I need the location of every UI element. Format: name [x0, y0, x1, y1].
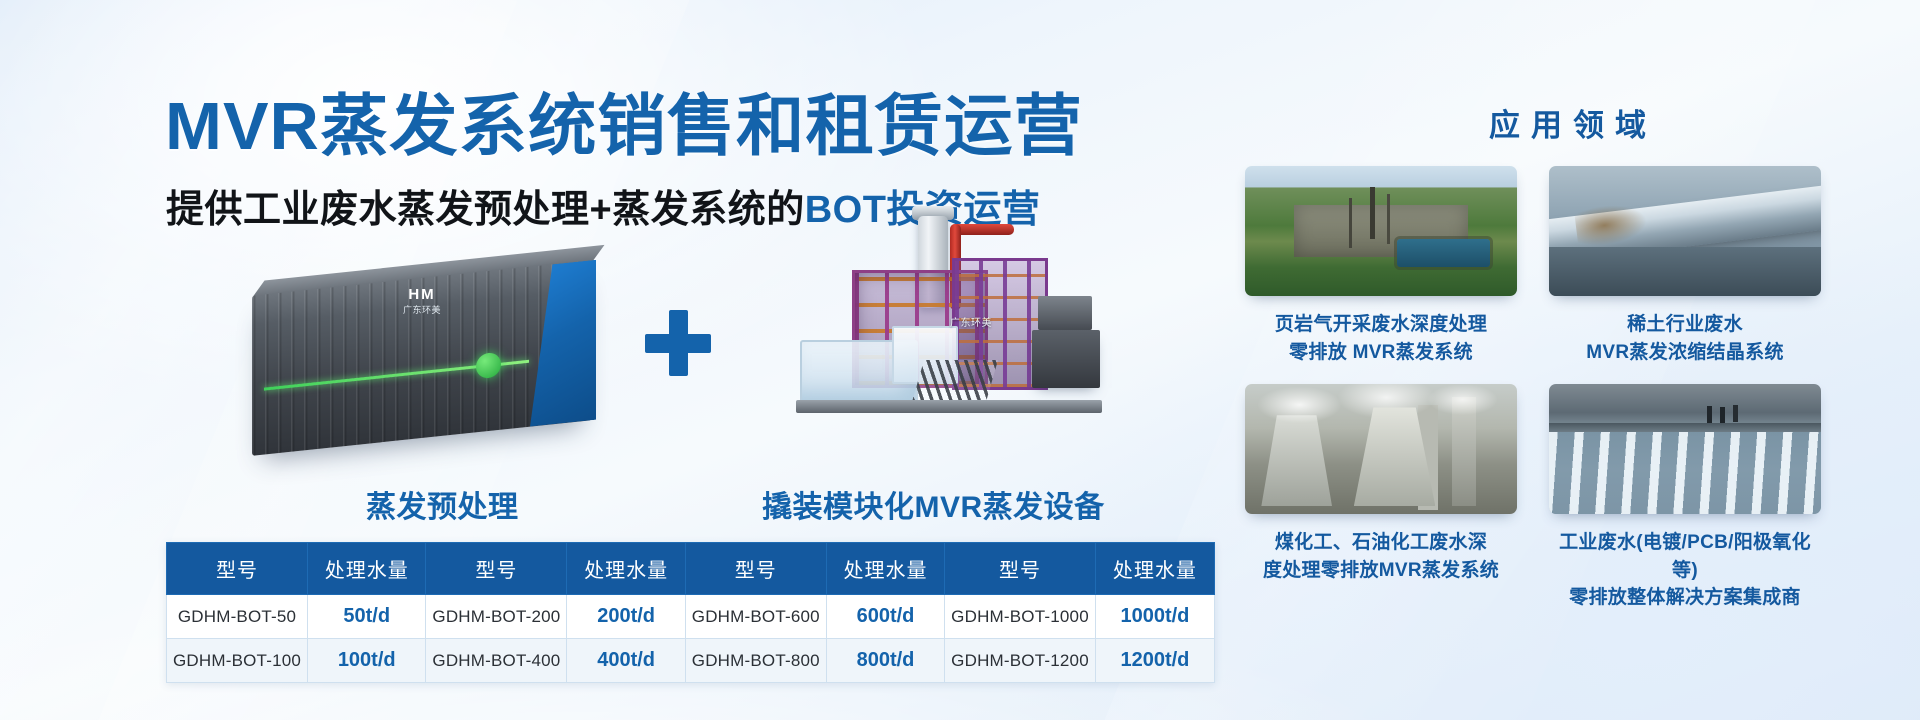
- product-caption-mvr-equipment: 撬装模块化MVR蒸发设备: [762, 482, 1105, 526]
- column-header-model: 型号: [426, 543, 567, 595]
- product-caption-pretreatment: 蒸发预处理: [366, 482, 519, 526]
- cell-capacity: 400t/d: [567, 639, 685, 683]
- table-header-row: 型号 处理水量 型号 处理水量 型号 处理水量 型号 处理水量: [167, 543, 1215, 595]
- caption-line-2: 零排放整体解决方案集成商: [1549, 584, 1821, 612]
- product-illustration-row: HM 广东环美 广东环美: [0, 258, 1180, 508]
- brand-mark-text: HM: [403, 286, 441, 305]
- column-header-capacity: 处理水量: [826, 543, 944, 595]
- cell-model: GDHM-BOT-600: [685, 595, 826, 639]
- application-card-rare-earth[interactable]: 稀土行业废水 MVR蒸发浓缩结晶系统: [1549, 166, 1821, 366]
- worker-figures: [1707, 406, 1712, 423]
- retention-pond: [1397, 239, 1489, 268]
- column-header-capacity: 处理水量: [308, 543, 426, 595]
- rig-brand-logo: 广东环美: [950, 314, 992, 329]
- shale-gas-wellpad-photo: [1245, 166, 1517, 296]
- application-card-caption: 煤化工、石油化工废水深 度处理零排放MVR蒸发系统: [1245, 529, 1517, 584]
- cell-model: GDHM-BOT-800: [685, 639, 826, 683]
- application-card-coal-chemical[interactable]: 煤化工、石油化工废水深 度处理零排放MVR蒸发系统: [1245, 384, 1517, 612]
- evaporation-pretreatment-unit-image: HM 广东环美: [252, 260, 592, 456]
- control-cabinet: [1032, 330, 1100, 388]
- promotional-banner: MVR蒸发系统销售和租赁运营 提供工业废水蒸发预处理+蒸发系统的BOT投资运营 …: [0, 0, 1920, 720]
- column-header-model: 型号: [945, 543, 1096, 595]
- cell-capacity: 1200t/d: [1095, 639, 1214, 683]
- application-cards-grid: 页岩气开采废水深度处理 零排放 MVR蒸发系统 稀土行业废水 MVR蒸发浓缩结晶…: [1245, 166, 1895, 612]
- skid-base-frame: [796, 400, 1102, 413]
- cell-capacity: 50t/d: [308, 595, 426, 639]
- cell-model: GDHM-BOT-1200: [945, 639, 1096, 683]
- caption-line-2: 零排放 MVR蒸发系统: [1245, 339, 1517, 367]
- column-header-model: 型号: [685, 543, 826, 595]
- specification-table: 型号 处理水量 型号 处理水量 型号 处理水量 型号 处理水量 GDHM-BOT…: [166, 542, 1215, 683]
- caption-line-1: 工业废水(电镀/PCB/阳极氧化等): [1549, 529, 1821, 584]
- caption-line-1: 页岩气开采废水深度处理: [1245, 311, 1517, 339]
- applications-column: 应用领域 页岩气开采废水深度处理 零排放 MVR蒸发系统: [1215, 0, 1920, 720]
- industrial-pipeline-photo: [1549, 166, 1821, 296]
- cell-model: GDHM-BOT-400: [426, 639, 567, 683]
- heat-exchanger-coil: [912, 360, 998, 402]
- left-content-column: MVR蒸发系统销售和租赁运营 提供工业废水蒸发预处理+蒸发系统的BOT投资运营 …: [0, 0, 1215, 720]
- cell-capacity: 200t/d: [567, 595, 685, 639]
- table-row: GDHM-BOT-50 50t/d GDHM-BOT-200 200t/d GD…: [167, 595, 1215, 639]
- cell-capacity: 1000t/d: [1095, 595, 1214, 639]
- cell-capacity: 600t/d: [826, 595, 944, 639]
- column-header-model: 型号: [167, 543, 308, 595]
- application-card-industrial-wastewater[interactable]: 工业废水(电镀/PCB/阳极氧化等) 零排放整体解决方案集成商: [1549, 384, 1821, 612]
- coal-chemical-plant-photo: [1245, 384, 1517, 514]
- plus-symbol-icon: [645, 310, 711, 376]
- application-card-shale-gas[interactable]: 页岩气开采废水深度处理 零排放 MVR蒸发系统: [1245, 166, 1517, 366]
- unit-brand-logo: HM 广东环美: [403, 286, 441, 316]
- cell-model: GDHM-BOT-1000: [945, 595, 1096, 639]
- column-header-capacity: 处理水量: [567, 543, 685, 595]
- cell-model: GDHM-BOT-50: [167, 595, 308, 639]
- caption-line-2: 度处理零排放MVR蒸发系统: [1245, 557, 1517, 585]
- cell-model: GDHM-BOT-100: [167, 639, 308, 683]
- applications-title: 应用领域: [1215, 100, 1920, 145]
- steam-plume: [1245, 384, 1517, 436]
- banner-headline: MVR蒸发系统销售和租赁运营: [165, 72, 1083, 169]
- application-card-caption: 页岩气开采废水深度处理 零排放 MVR蒸发系统: [1245, 311, 1517, 366]
- skid-mounted-mvr-evaporator-image: 广东环美: [800, 218, 1110, 448]
- application-cards-row: 煤化工、石油化工废水深 度处理零排放MVR蒸发系统 工业废水(电镀/PCB/阳极…: [1245, 384, 1895, 612]
- cell-model: GDHM-BOT-200: [426, 595, 567, 639]
- application-cards-row: 页岩气开采废水深度处理 零排放 MVR蒸发系统 稀土行业废水 MVR蒸发浓缩结晶…: [1245, 166, 1895, 366]
- caption-line-2: MVR蒸发浓缩结晶系统: [1549, 339, 1821, 367]
- pipe-rust-patch: [1574, 201, 1649, 248]
- caption-line-1: 稀土行业废水: [1549, 311, 1821, 339]
- wastewater-basin-photo: [1549, 384, 1821, 514]
- table-row: GDHM-BOT-100 100t/d GDHM-BOT-400 400t/d …: [167, 639, 1215, 683]
- application-card-caption: 工业废水(电镀/PCB/阳极氧化等) 零排放整体解决方案集成商: [1549, 529, 1821, 612]
- caption-line-1: 煤化工、石油化工废水深: [1245, 529, 1517, 557]
- subheadline-plain-text: 提供工业废水蒸发预处理+蒸发系统的: [166, 189, 805, 231]
- column-header-capacity: 处理水量: [1095, 543, 1214, 595]
- application-card-caption: 稀土行业废水 MVR蒸发浓缩结晶系统: [1549, 311, 1821, 366]
- cell-capacity: 800t/d: [826, 639, 944, 683]
- cell-capacity: 100t/d: [308, 639, 426, 683]
- control-box-upper: [1038, 296, 1092, 330]
- brand-name-text: 广东环美: [403, 305, 441, 315]
